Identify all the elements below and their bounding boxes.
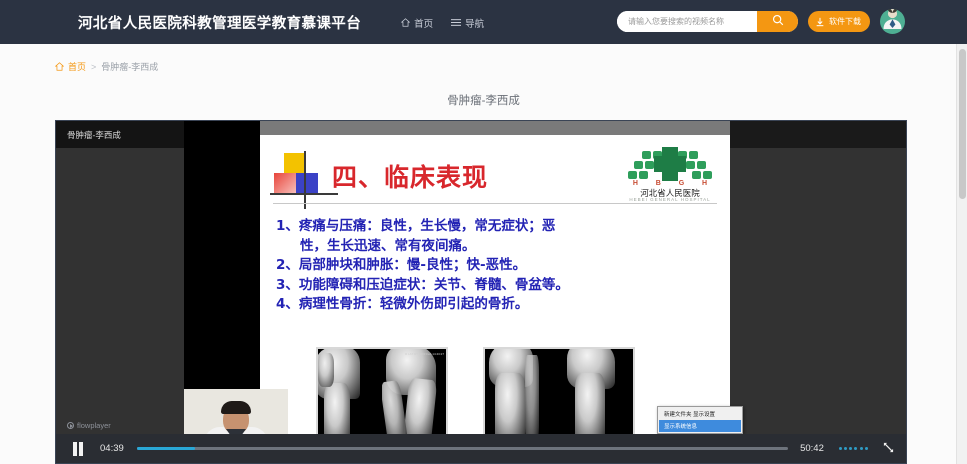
player-right-panel xyxy=(730,121,907,464)
search-input[interactable] xyxy=(617,11,757,32)
player-left-panel-title: 骨肿瘤-李西成 xyxy=(67,129,121,141)
user-avatar-icon xyxy=(880,9,905,34)
slide-bullet-line: 1、疼痛与压痛：良性，生长慢，常无症状；恶 xyxy=(276,218,555,234)
page-scrollbar-thumb[interactable] xyxy=(959,49,966,199)
slide-xray-images: R LAT RT 2003 Feb 14:43:27 SAG L xyxy=(316,347,716,443)
progress-bar-filled xyxy=(137,447,196,450)
nav-item-navigation[interactable]: 导航 xyxy=(451,15,484,29)
player-left-panel: 骨肿瘤-李西成 xyxy=(56,121,184,464)
slide-top-strip xyxy=(260,121,730,135)
nav-item-home-label: 首页 xyxy=(414,16,433,30)
home-icon xyxy=(401,18,410,27)
play-badge-icon xyxy=(67,422,74,429)
logo-letter: B xyxy=(656,180,661,187)
flowplayer-watermark-label: flowplayer xyxy=(77,421,111,430)
search-bar[interactable] xyxy=(617,11,798,32)
xray-pane xyxy=(485,349,559,441)
green-cross-icon xyxy=(624,147,716,183)
context-menu-item-selected[interactable]: 显示系统信息 xyxy=(659,420,741,432)
slide-bullet-item: 3、功能障碍和压迫症状：关节、脊髓、骨盆等。 xyxy=(276,276,716,296)
xray-pane: R LAT RT 2003 Feb 14:43:27 xyxy=(382,349,446,441)
slide-bullet-line: 性，生长迅速、常有夜间痛。 xyxy=(276,237,716,257)
home-icon xyxy=(55,62,64,71)
breadcrumb-separator: > xyxy=(91,62,96,72)
hospital-logo-letters: H B G H xyxy=(624,180,716,187)
logo-letter: G xyxy=(679,180,684,187)
slide-bullet-item: 1、疼痛与压痛：良性，生长慢，常无症状；恶 性，生长迅速、常有夜间痛。 xyxy=(276,217,716,256)
slide-bullet-item: 4、病理性骨折：轻微外伤即引起的骨折。 xyxy=(276,295,716,315)
xray-pane: SAG L xyxy=(559,349,633,441)
hamburger-menu-icon xyxy=(451,18,461,27)
software-download-button[interactable]: 软件下载 xyxy=(808,11,870,32)
search-icon xyxy=(772,13,784,31)
page-root: 河北省人民医院科教管理医学教育慕课平台 首页 导航 xyxy=(0,0,967,464)
site-header: 河北省人民医院科教管理医学教育慕课平台 首页 导航 xyxy=(0,0,967,44)
progress-bar[interactable] xyxy=(137,447,788,450)
slide-bullet-item: 2、局部肿块和肿胀：慢-良性；快-恶性。 xyxy=(276,256,716,276)
header-nav: 首页 导航 xyxy=(383,15,484,29)
current-time-label: 04:39 xyxy=(100,443,124,454)
site-brand-title: 河北省人民医院科教管理医学教育慕课平台 xyxy=(78,12,361,33)
slide-title: 四、临床表现 xyxy=(332,158,488,194)
breadcrumb-home-link[interactable]: 首页 xyxy=(68,60,86,73)
pause-icon xyxy=(72,442,84,456)
player-right-panel-header xyxy=(730,121,907,148)
context-menu-item[interactable]: 新建文件夹 显示设置 xyxy=(659,408,741,420)
context-menu[interactable]: 新建文件夹 显示设置 显示系统信息 xyxy=(657,406,743,434)
download-icon xyxy=(815,17,825,27)
page-title: 骨肿瘤-李西成 xyxy=(0,92,967,108)
page-scrollbar[interactable] xyxy=(956,44,967,464)
search-button[interactable] xyxy=(757,11,798,32)
avatar[interactable] xyxy=(880,9,905,34)
logo-letter: H xyxy=(633,180,638,187)
breadcrumb: 首页 > 骨肿瘤-李西成 xyxy=(55,60,158,73)
xray-image-left: R LAT RT 2003 Feb 14:43:27 xyxy=(316,347,448,443)
xray-pane xyxy=(318,349,382,441)
slide-decoration-squares xyxy=(274,153,326,205)
breadcrumb-current[interactable]: 骨肿瘤-李西成 xyxy=(101,60,158,73)
player-control-bar[interactable]: flowplayer 04:39 50:42 xyxy=(56,434,907,463)
volume-dots-icon[interactable] xyxy=(839,447,870,450)
video-player[interactable]: 骨肿瘤-李西成 四、临床表现 xyxy=(55,120,907,464)
xray-image-right: SAG L xyxy=(483,347,635,443)
xray-stamp-label: R LAT RT 2003 Feb 14:43:27 xyxy=(405,352,444,356)
fullscreen-button[interactable] xyxy=(883,440,894,458)
pause-button[interactable] xyxy=(70,441,86,457)
flowplayer-watermark: flowplayer xyxy=(67,421,111,430)
fullscreen-icon xyxy=(883,440,894,458)
hospital-logo: H B G H 河北省人民医院 HEBEI GENERAL HOSPITAL xyxy=(624,147,716,205)
software-download-label: 软件下载 xyxy=(829,16,861,27)
logo-letter: H xyxy=(702,180,707,187)
nav-item-home[interactable]: 首页 xyxy=(401,15,433,29)
hospital-name-en: HEBEI GENERAL HOSPITAL xyxy=(624,197,716,202)
slide-bullet-list: 1、疼痛与压痛：良性，生长慢，常无症状；恶 性，生长迅速、常有夜间痛。 2、局部… xyxy=(276,217,716,315)
duration-label: 50:42 xyxy=(800,443,824,454)
nav-item-navigation-label: 导航 xyxy=(465,16,484,30)
player-left-panel-header: 骨肿瘤-李西成 xyxy=(56,121,184,148)
